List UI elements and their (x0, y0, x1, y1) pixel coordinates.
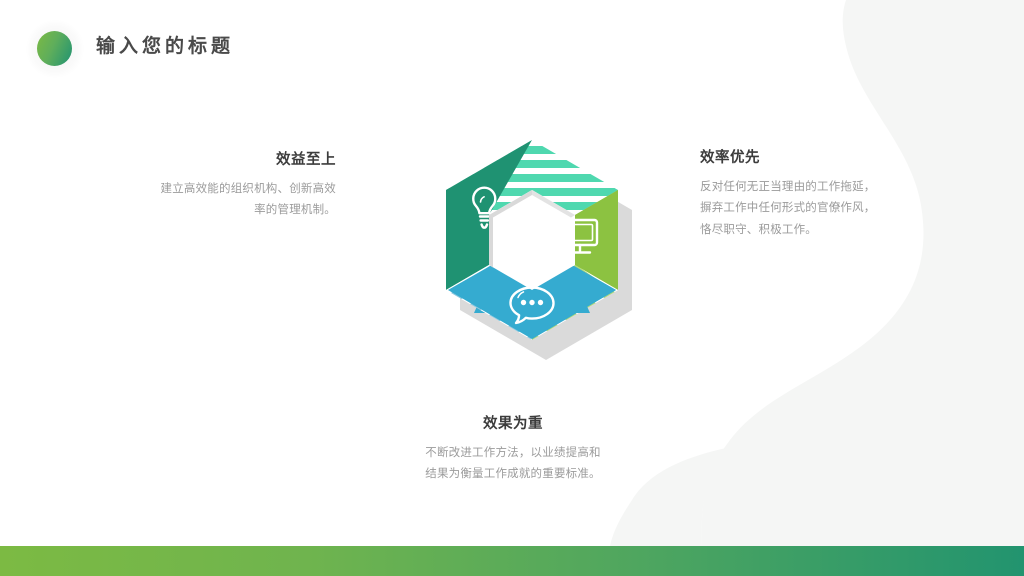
content-block-left-title: 效益至上 (88, 148, 336, 169)
content-block-left-body: 建立高效能的组织机构、创新高效 率的管理机制。 (88, 179, 336, 222)
content-block-right-body-line: 反对任何无正当理由的工作拖延， (700, 177, 950, 198)
hexagon-svg (402, 132, 662, 394)
content-block-bottom: 效果为重 不断改进工作方法，以业绩提高和 结果为衡量工作成就的重要标准。 (388, 412, 638, 486)
content-block-right-body-line: 恪尽职守、积极工作。 (700, 220, 950, 241)
content-block-left: 效益至上 建立高效能的组织机构、创新高效 率的管理机制。 (88, 148, 336, 222)
circle-gradient-icon (37, 31, 72, 66)
page-title: 输入您的标题 (96, 31, 234, 58)
content-block-bottom-body: 不断改进工作方法，以业绩提高和 结果为衡量工作成就的重要标准。 (388, 443, 638, 486)
content-block-bottom-body-line: 不断改进工作方法，以业绩提高和 (388, 443, 638, 464)
content-block-left-body-line: 率的管理机制。 (88, 200, 336, 221)
content-block-left-body-line: 建立高效能的组织机构、创新高效 (88, 179, 336, 200)
hexagon-diagram (402, 132, 662, 394)
slide-canvas: 输入您的标题 效益至上 建立高效能的组织机构、创新高效 率的管理机制。 效率优先… (0, 0, 1024, 576)
content-block-right-body-line: 摒弃工作中任何形式的官僚作风， (700, 198, 950, 219)
content-block-right-body: 反对任何无正当理由的工作拖延， 摒弃工作中任何形式的官僚作风， 恪尽职守、积极工… (700, 177, 950, 241)
content-block-bottom-title: 效果为重 (388, 412, 638, 433)
content-block-right-title: 效率优先 (700, 146, 950, 167)
footer-bar (0, 546, 1024, 576)
content-block-right: 效率优先 反对任何无正当理由的工作拖延， 摒弃工作中任何形式的官僚作风， 恪尽职… (700, 146, 950, 241)
content-block-bottom-body-line: 结果为衡量工作成就的重要标准。 (388, 464, 638, 485)
slide-header: 输入您的标题 (0, 0, 1024, 92)
